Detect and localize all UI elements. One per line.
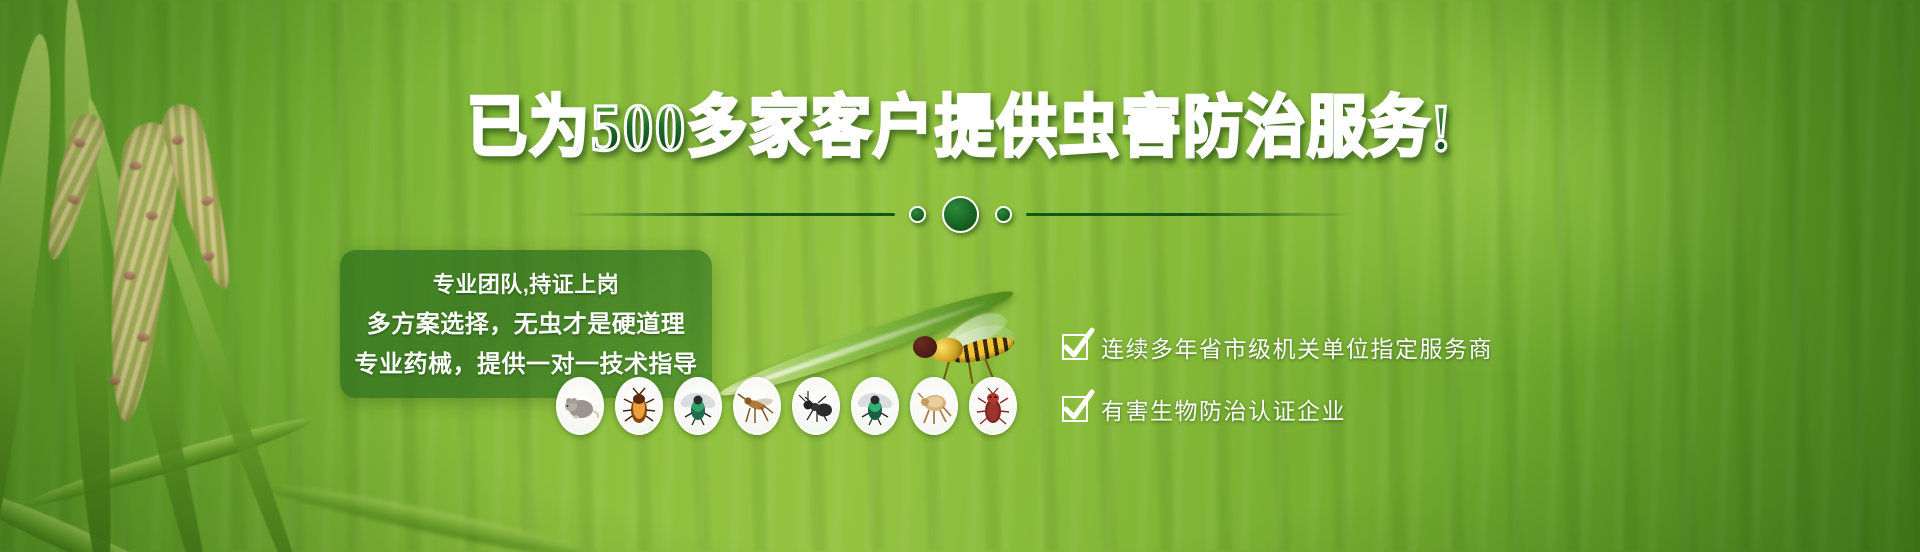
mosquito-icon	[733, 377, 781, 435]
ant-icon	[792, 377, 840, 435]
credentials-checklist: 连续多年省市级机关单位指定服务商 有害生物防治认证企业	[1062, 330, 1493, 426]
rat-icon	[556, 377, 604, 435]
bedbug-icon	[969, 377, 1017, 435]
checklist-item: 连续多年省市级机关单位指定服务商	[1062, 330, 1493, 364]
pest-icon-strip	[556, 377, 1017, 435]
divider-line-right	[1026, 213, 1356, 216]
headline-text: 已为500多家客户提供虫害防治服务!	[467, 73, 1453, 170]
cockroach-icon	[615, 377, 663, 435]
checklist-item-label: 连续多年省市级机关单位指定服务商	[1101, 330, 1493, 364]
divider-dot-large	[942, 196, 979, 233]
selling-points-panel: 专业团队,持证上岗 多方案选择，无虫才是硬道理 专业药械，提供一对一技术指导	[340, 250, 712, 398]
flea-icon	[910, 377, 958, 435]
decorative-divider	[0, 196, 1920, 233]
divider-line-left	[565, 213, 895, 216]
panel-line-2: 多方案选择，无虫才是硬道理	[367, 304, 686, 339]
pest-control-banner: 已为500多家客户提供虫害防治服务! 专业团队,持证上岗 多方案选择，无虫才是硬…	[0, 0, 1920, 552]
divider-dot-small-right	[995, 206, 1012, 223]
divider-dot-small-left	[909, 206, 926, 223]
hoverfly-icon	[905, 318, 1025, 384]
panel-line-1: 专业团队,持证上岗	[433, 267, 620, 299]
panel-line-3: 专业药械，提供一对一技术指导	[355, 344, 698, 379]
check-icon	[1062, 334, 1088, 360]
divider-dots	[909, 196, 1012, 233]
blowfly-icon	[851, 377, 899, 435]
check-icon	[1062, 396, 1088, 422]
checklist-item-label: 有害生物防治认证企业	[1101, 392, 1346, 426]
checklist-item: 有害生物防治认证企业	[1062, 392, 1493, 426]
fly-icon	[674, 377, 722, 435]
headline: 已为500多家客户提供虫害防治服务!	[0, 78, 1920, 165]
